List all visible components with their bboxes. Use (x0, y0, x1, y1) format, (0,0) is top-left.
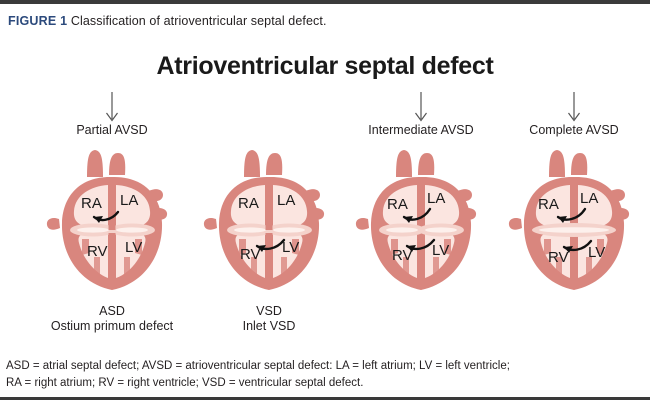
top-divider-rule (0, 0, 650, 4)
abbreviation-footnote: ASD = atrial septal defect; AVSD = atrio… (6, 358, 646, 391)
arrow-down-icon (32, 92, 192, 124)
arrow-down-icon (494, 92, 650, 124)
chamber-label-ra: RA (81, 195, 102, 212)
diagram-columns: Partial AVSD (0, 92, 650, 357)
chamber-label-ra: RA (238, 195, 259, 212)
defect-label-line1: VSD (169, 304, 369, 319)
figure-caption-text: Classification of atrioventricular septa… (67, 14, 326, 28)
chamber-label-lv: LV (282, 239, 299, 256)
column-type-label: Intermediate AVSD (341, 123, 501, 137)
chamber-label-lv: LV (588, 244, 605, 261)
chamber-label-rv: RV (548, 249, 569, 266)
figure-caption: FIGURE 1 Classification of atrioventricu… (8, 14, 327, 28)
footnote-line-2: RA = right atrium; RV = right ventricle;… (6, 375, 646, 392)
page-title: Atrioventricular septal defect (0, 52, 650, 81)
heart-diagram-intermediate-avsd: RA LA RV LV (341, 144, 501, 302)
diagram-column-vsd: RA LA RV LV VSD Inlet VSD (189, 92, 349, 357)
chamber-label-rv: RV (392, 247, 413, 264)
figure-number-label: FIGURE 1 (8, 14, 67, 28)
diagram-column-complete-avsd: Complete AVSD (494, 92, 650, 357)
heart-diagram-partial-avsd: RA LA RV LV (32, 144, 192, 302)
chamber-label-lv: LV (432, 242, 449, 259)
chamber-label-la: LA (120, 192, 138, 209)
chamber-label-lv: LV (125, 239, 142, 256)
diagram-column-partial-avsd: Partial AVSD (32, 92, 192, 357)
chamber-label-la: LA (580, 190, 598, 207)
bottom-divider-rule (0, 397, 650, 400)
defect-label-line2: Inlet VSD (169, 319, 369, 334)
chamber-label-la: LA (277, 192, 295, 209)
chamber-label-la: LA (427, 190, 445, 207)
diagram-column-intermediate-avsd: Intermediate AVSD (341, 92, 501, 357)
defect-label-group: VSD Inlet VSD (169, 304, 369, 334)
column-type-label: Complete AVSD (494, 123, 650, 137)
chamber-label-rv: RV (87, 243, 108, 260)
chamber-label-ra: RA (387, 196, 408, 213)
chamber-label-rv: RV (240, 246, 261, 263)
footnote-line-1: ASD = atrial septal defect; AVSD = atrio… (6, 358, 646, 375)
column-type-label: Partial AVSD (32, 123, 192, 137)
av-valve-common (532, 223, 616, 237)
heart-diagram-vsd: RA LA RV LV (189, 144, 349, 302)
heart-diagram-complete-avsd: RA LA RV LV (494, 144, 650, 302)
chamber-label-ra: RA (538, 196, 559, 213)
arrow-down-icon (341, 92, 501, 124)
